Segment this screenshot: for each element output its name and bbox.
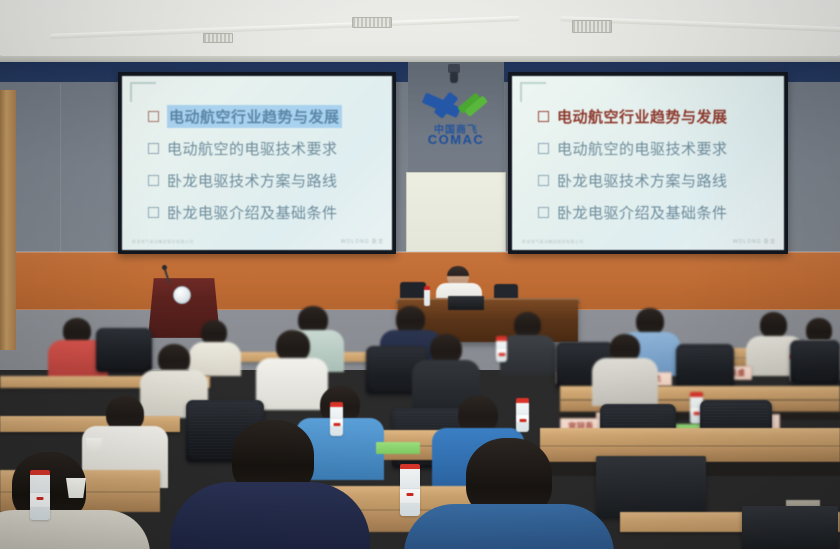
comac-logo-en: COMAC: [414, 132, 498, 147]
water-bottle: [400, 464, 420, 516]
slide-footer-right: WOLONG 卧龙: [733, 238, 776, 245]
wall-wood-trim: [0, 90, 16, 350]
slide-corner-decor: [520, 82, 546, 102]
bullet-item: 电动航空的电驱技术要求: [538, 134, 774, 162]
bullet-label: 卧龙电驱技术方案与路线: [167, 170, 338, 191]
bullet-item: 电动航空行业趋势与发展: [538, 102, 774, 130]
checkbox-icon: [148, 175, 159, 186]
person-head: [396, 306, 425, 333]
whiteboard: [406, 172, 506, 252]
left-slide-bullets: 电动航空行业趋势与发展 电动航空的电驱技术要求 卧龙电驱技术方案与路线 卧龙电驱…: [148, 102, 382, 230]
conference-room-photo: 中国商飞 COMAC 电动航空行业趋势与发展 电动航空的电驱技术要求 卧龙电驱技: [0, 0, 840, 549]
bullet-label: 电动航空行业趋势与发展: [167, 105, 342, 128]
checkbox-icon: [538, 111, 549, 122]
bullet-label: 卧龙电驱介绍及基础条件: [167, 202, 338, 223]
water-bottle: [496, 336, 507, 362]
slide-footer-left: 卧龙电气驱动集团股份有限公司: [132, 239, 194, 245]
bullet-item: 电动航空行业趋势与发展: [148, 102, 382, 130]
ceiling-camera-icon: [450, 72, 458, 83]
person-torso: [404, 504, 614, 549]
right-slide: 电动航空行业趋势与发展 电动航空的电驱技术要求 卧龙电驱技术方案与路线 卧龙电驱…: [512, 76, 784, 250]
person-torso: [592, 358, 658, 406]
right-slide-bullets: 电动航空行业趋势与发展 电动航空的电驱技术要求 卧龙电驱技术方案与路线 卧龙电驱…: [538, 102, 774, 230]
person-head: [760, 312, 787, 338]
chair: [96, 328, 152, 372]
water-bottle: [516, 398, 529, 432]
chair: [676, 344, 734, 390]
notepad: [376, 442, 420, 454]
podium-microphone-head: [162, 265, 167, 270]
checkbox-icon: [538, 143, 549, 154]
checkbox-icon: [148, 111, 159, 122]
bullet-label: 卧龙电驱介绍及基础条件: [557, 202, 728, 223]
left-slide: 电动航空行业趋势与发展 电动航空的电驱技术要求 卧龙电驱技术方案与路线 卧龙电驱…: [122, 76, 392, 250]
person-torso: [0, 510, 150, 549]
slide-footer-left: 卧龙电气驱动集团股份有限公司: [522, 239, 584, 245]
person-torso: [170, 482, 370, 549]
bullet-item: 卧龙电驱介绍及基础条件: [148, 198, 382, 226]
person-torso: [500, 335, 556, 375]
bullet-label: 电动航空的电驱技术要求: [167, 138, 338, 159]
paper-cup: [66, 478, 86, 498]
wall-panel-seam: [60, 84, 61, 252]
podium-emblem-icon: [173, 286, 191, 304]
bullet-label: 电动航空的电驱技术要求: [557, 138, 728, 159]
checkbox-icon: [538, 207, 549, 218]
checkbox-icon: [538, 175, 549, 186]
bullet-item: 卧龙电驱介绍及基础条件: [538, 198, 774, 226]
checkbox-icon: [148, 207, 159, 218]
water-bottle: [424, 286, 430, 306]
laptop: [742, 506, 838, 549]
chair: [790, 340, 840, 384]
bullet-label: 卧龙电驱技术方案与路线: [557, 170, 728, 191]
bullet-label: 电动航空行业趋势与发展: [557, 106, 728, 127]
comac-mark-icon: [422, 90, 490, 120]
water-bottle: [330, 402, 343, 436]
person-torso: [256, 358, 328, 410]
bullet-item: 卧龙电驱技术方案与路线: [538, 166, 774, 194]
paper-cup: [86, 438, 102, 453]
bullet-item: 卧龙电驱技术方案与路线: [148, 166, 382, 194]
water-bottle: [30, 470, 50, 520]
laptop: [596, 456, 706, 518]
right-projection-screen[interactable]: 电动航空行业趋势与发展 电动航空的电驱技术要求 卧龙电驱技术方案与路线 卧龙电驱…: [508, 72, 788, 254]
presenter-laptop: [448, 296, 484, 310]
bullet-item: 电动航空的电驱技术要求: [148, 134, 382, 162]
ceiling-vent-icon: [572, 20, 612, 33]
comac-logo: 中国商飞 COMAC: [414, 90, 498, 152]
checkbox-icon: [148, 143, 159, 154]
left-projection-screen[interactable]: 电动航空行业趋势与发展 电动航空的电驱技术要求 卧龙电驱技术方案与路线 卧龙电驱…: [118, 72, 396, 254]
slide-footer-right: WOLONG 卧龙: [341, 238, 384, 245]
desk: [540, 428, 840, 446]
ceiling-vent-icon: [203, 33, 233, 43]
ceiling-vent-icon: [352, 17, 392, 28]
person-head: [636, 308, 664, 335]
slide-corner-decor: [130, 82, 156, 102]
